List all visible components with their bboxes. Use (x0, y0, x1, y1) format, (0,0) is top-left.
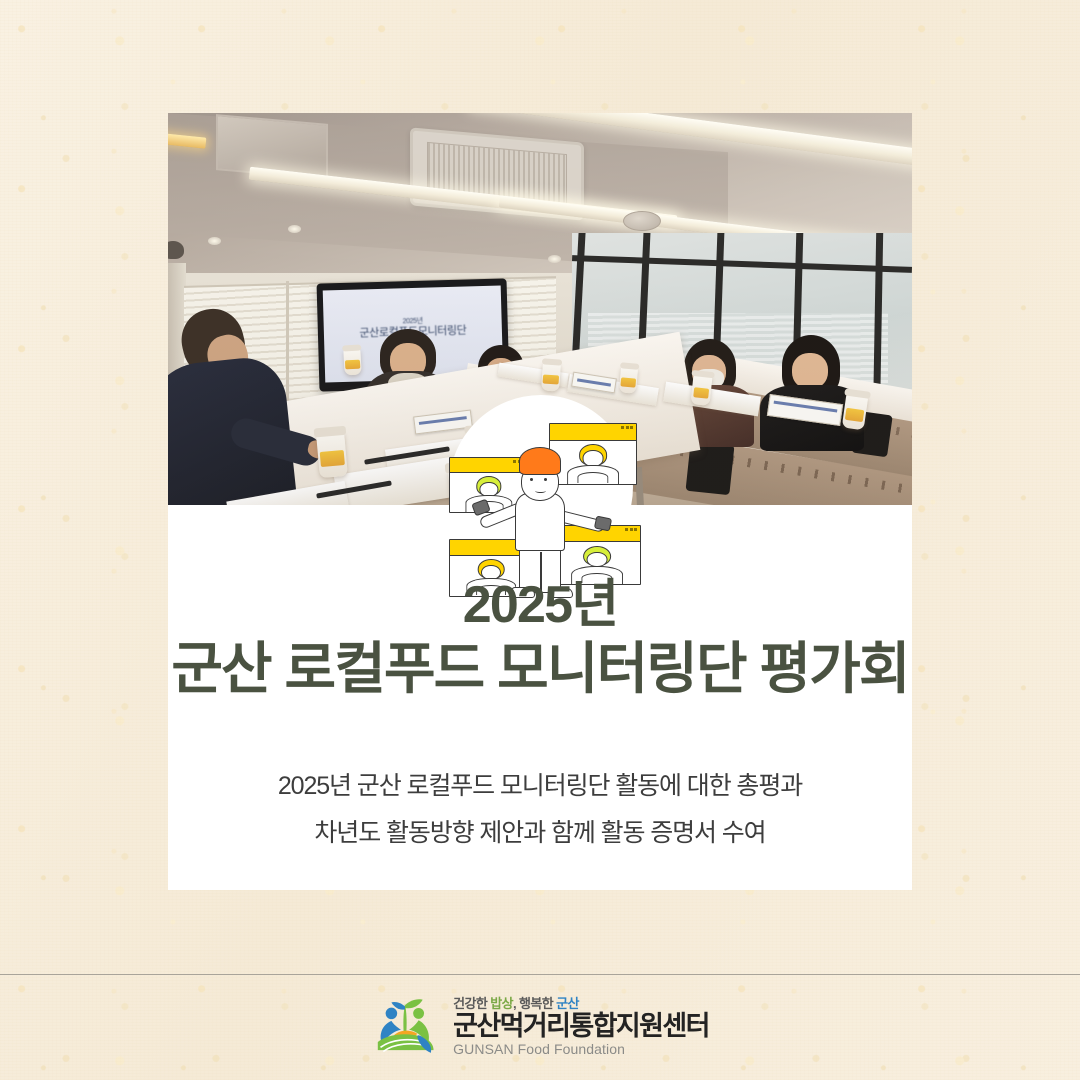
tagline-highlight-2: 군산 (556, 996, 579, 1011)
coffee-cup (619, 366, 638, 393)
security-camera (168, 241, 184, 259)
coffee-cup (541, 362, 561, 391)
ceiling-spotlight (288, 225, 301, 233)
presenter-eye (530, 478, 533, 481)
presenter-mouth (535, 487, 546, 493)
coffee-cup (343, 349, 361, 376)
title-line-2: 군산 로컬푸드 모니터링단 평가회 (168, 635, 912, 702)
window-controls-icon (621, 426, 633, 429)
text-block: 2025년 군산 로컬푸드 모니터링단 평가회 2025년 군산 로컬푸드 모니… (168, 575, 912, 858)
window-controls-icon (625, 528, 637, 531)
window-title-bar (550, 424, 636, 441)
subtitle-line-1: 2025년 군산 로컬푸드 모니터링단 활동에 대한 총평과 (168, 763, 912, 811)
title-line-1: 2025년 (168, 575, 912, 635)
face (792, 353, 828, 389)
tagline-part-2: , 행복한 (513, 996, 556, 1011)
presenter-hair (519, 447, 561, 475)
organization-name: 군산먹거리통합지원센터 (453, 1011, 709, 1041)
ceiling-spotlight (548, 255, 561, 263)
tagline-highlight-1: 밥상 (490, 996, 513, 1011)
video-conference-illustration (441, 395, 641, 595)
content-card: 2025년 군산로컬푸드모니터링단 평가회 (168, 113, 912, 890)
page-title: 2025년 군산 로컬푸드 모니터링단 평가회 (168, 575, 912, 703)
ceiling-speaker (623, 211, 661, 231)
ceiling-spotlight (208, 237, 221, 245)
subtitle-line-2: 차년도 활동방향 제안과 함께 활동 증명서 수여 (168, 810, 912, 858)
organization-name-english: GUNSAN Food Foundation (453, 1042, 709, 1057)
footer: 건강한 밥상, 행복한 군산 군산먹거리통합지원센터 GUNSAN Food F… (0, 974, 1080, 1080)
gunsan-food-foundation-logo-icon (371, 993, 439, 1061)
coffee-cup (690, 374, 712, 406)
participant-foreground (168, 309, 310, 505)
coffee-cup (316, 432, 348, 478)
logo-tagline: 건강한 밥상, 행복한 군산 (453, 997, 709, 1010)
presenter-figure (503, 447, 583, 595)
logo-text-block: 건강한 밥상, 행복한 군산 군산먹거리통합지원센터 GUNSAN Food F… (453, 997, 709, 1058)
presenter-eye (544, 478, 547, 481)
presenter-torso (515, 493, 565, 551)
tagline-part-1: 건강한 (453, 996, 490, 1011)
page-subtitle: 2025년 군산 로컬푸드 모니터링단 활동에 대한 총평과 차년도 활동방향 … (168, 763, 912, 858)
screen-text-line1: 2025년 (403, 318, 423, 326)
